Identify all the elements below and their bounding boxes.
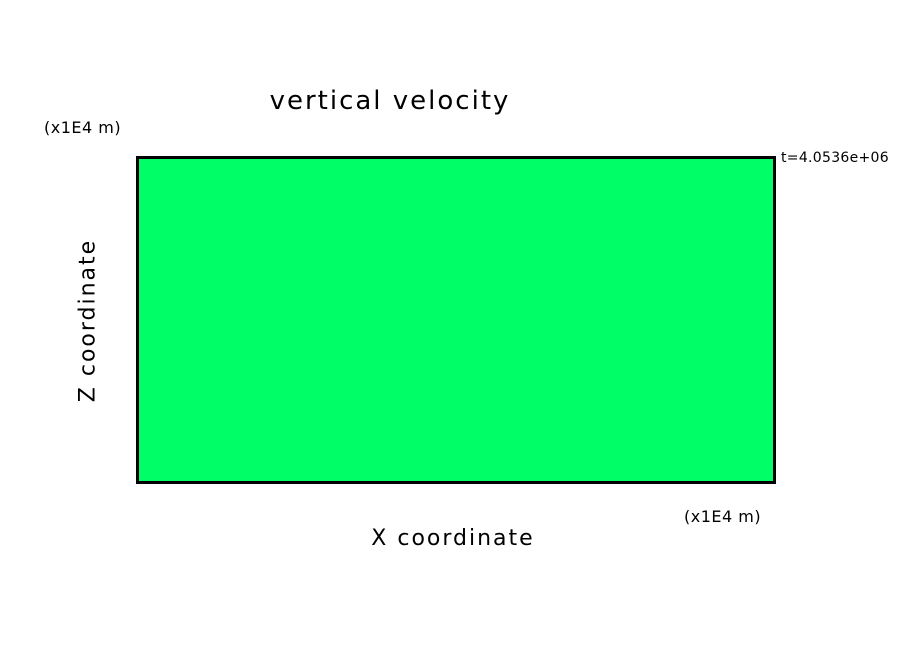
y-axis-units-label: (x1E4 m) <box>44 118 121 137</box>
contour-field <box>139 159 773 481</box>
y-axis-title: Z coordinate <box>76 211 101 431</box>
x-axis-units-label: (x1E4 m) <box>684 507 761 526</box>
x-axis-title: X coordinate <box>136 526 770 551</box>
colorbar-bands <box>781 205 805 525</box>
timestamp-label: t=4.0536e+06 <box>781 150 889 166</box>
contour-plot-frame <box>136 156 776 484</box>
page-title: vertical velocity <box>0 86 780 116</box>
colorbar <box>781 205 805 525</box>
